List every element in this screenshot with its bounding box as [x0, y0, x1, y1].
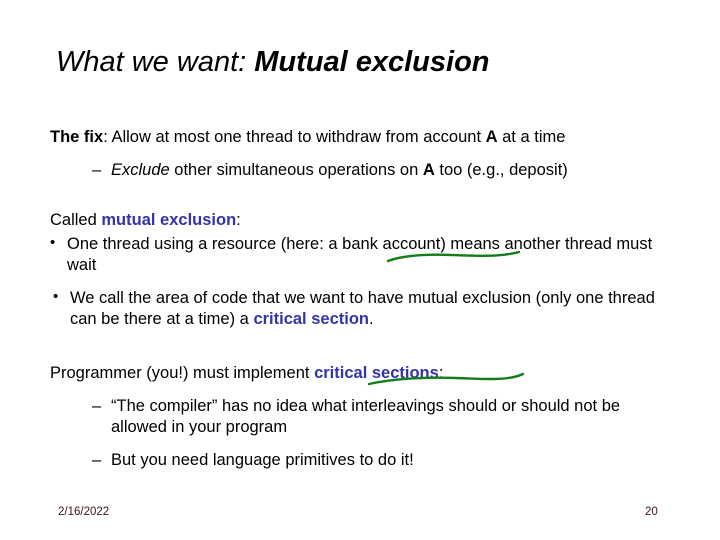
paragraph-the-fix: The fix: Allow at most one thread to wit… — [50, 127, 565, 147]
the-fix-label: The fix — [50, 128, 103, 146]
footer-date: 2/16/2022 — [58, 506, 109, 518]
sub-bullet-exclude-text: Exclude other simultaneous operations on… — [111, 160, 662, 181]
dot-bullet-icon: • — [53, 287, 67, 308]
the-fix-account-a: A — [486, 128, 498, 146]
sub-bullet-compiler: – “The compiler” has no idea what interl… — [92, 396, 672, 437]
dot-bullet-icon: • — [50, 233, 64, 254]
term-critical-sections: critical sections — [314, 364, 439, 382]
the-fix-rest-b: at a time — [498, 128, 566, 146]
programmer-lead: Programmer (you!) must implement — [50, 364, 314, 382]
sub-bullet-compiler-text: “The compiler” has no idea what interlea… — [111, 396, 672, 437]
title-emphasis: Mutual exclusion — [254, 46, 489, 78]
exclude-rest-a: other simultaneous operations on — [170, 161, 423, 179]
sub-bullet-primitives-text: But you need language primitives to do i… — [111, 450, 652, 471]
exclude-account-a: A — [423, 161, 435, 179]
called-lead: Called — [50, 211, 101, 229]
dash-bullet-icon: – — [92, 160, 108, 181]
sub-bullet-exclude: – Exclude other simultaneous operations … — [92, 160, 662, 181]
slide-canvas: What we want: Mutual exclusion The fix: … — [0, 0, 720, 540]
programmer-tail: : — [439, 364, 444, 382]
bullet-critical-section-text: We call the area of code that we want to… — [70, 288, 673, 329]
exclude-rest-b: too (e.g., deposit) — [435, 161, 568, 179]
bullet-one-thread: • One thread using a resource (here: a b… — [50, 234, 680, 275]
term-mutual-exclusion: mutual exclusion — [101, 211, 236, 229]
title-lead: What we want: — [56, 46, 254, 78]
bullet2-tail: . — [369, 310, 374, 328]
paragraph-programmer: Programmer (you!) must implement critica… — [50, 363, 443, 383]
bullet-one-thread-text: One thread using a resource (here: a ban… — [67, 234, 680, 275]
exclude-italic: Exclude — [111, 161, 170, 179]
footer-page-number: 20 — [645, 506, 658, 518]
bullet-critical-section: • We call the area of code that we want … — [53, 288, 673, 329]
the-fix-rest-a: : Allow at most one thread to withdraw f… — [103, 128, 485, 146]
sub-bullet-primitives: – But you need language primitives to do… — [92, 450, 652, 471]
dash-bullet-icon: – — [92, 450, 108, 471]
called-tail: : — [236, 211, 241, 229]
term-critical-section: critical section — [253, 310, 369, 328]
dash-bullet-icon: – — [92, 396, 108, 417]
paragraph-called: Called mutual exclusion: — [50, 210, 241, 230]
page-title: What we want: Mutual exclusion — [56, 46, 490, 79]
